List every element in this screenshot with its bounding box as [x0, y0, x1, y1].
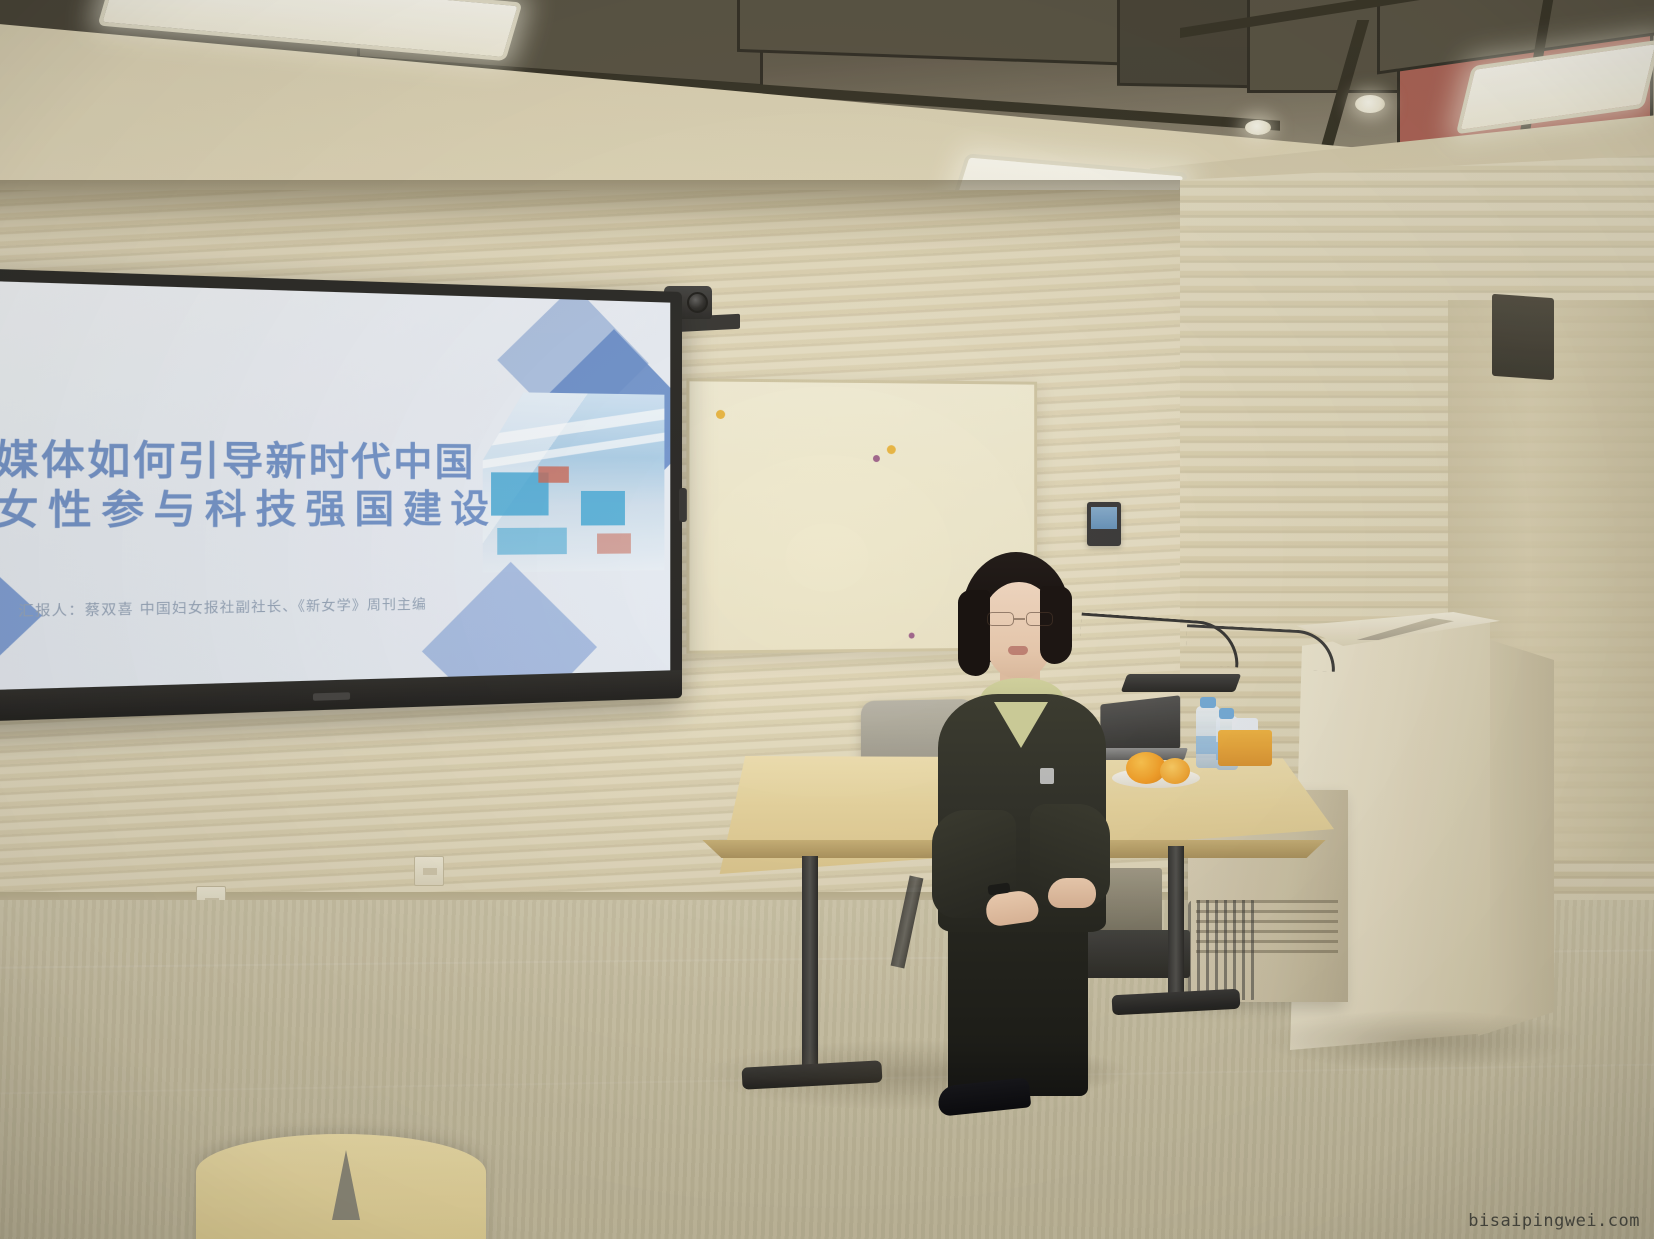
microphone-base: [1121, 674, 1242, 692]
conference-room-photo: 媒体如何引导新时代中国 女性参与科技强国建设 汇报人：蔡双喜 中国妇女报社副社长…: [0, 0, 1654, 1239]
slide-title-block: 媒体如何引导新时代中国 女性参与科技强国建设: [0, 435, 518, 535]
camera-lens-icon: [687, 292, 708, 313]
display-side-button[interactable]: [679, 488, 687, 522]
whiteboard-magnet[interactable]: [887, 445, 896, 454]
watermark: bisaipingwei.com: [1468, 1211, 1640, 1231]
table-leg: [802, 856, 818, 1074]
interactive-flat-panel-display[interactable]: 媒体如何引导新时代中国 女性参与科技强国建设 汇报人：蔡双喜 中国妇女报社副社长…: [0, 267, 682, 723]
bottle-cap: [1219, 708, 1234, 719]
display-brand-logo: [313, 692, 350, 701]
presenter-hand-right: [1048, 878, 1096, 908]
wall-control-touch-panel[interactable]: [1087, 502, 1121, 546]
downlight: [1245, 120, 1271, 135]
photo-detail: [538, 466, 568, 482]
tissue-box[interactable]: [1218, 730, 1272, 766]
whiteboard-magnet[interactable]: [909, 633, 915, 639]
slide-title-line-2: 女性参与科技强国建设: [0, 485, 518, 535]
slide-title-line-1: 媒体如何引导新时代中国: [0, 435, 518, 486]
ceiling-tile: [740, 0, 1140, 63]
laptop-screen[interactable]: [1100, 695, 1180, 755]
foreground-table-notch: [332, 1150, 360, 1220]
presenter-legs: [948, 914, 1088, 1096]
photo-detail: [597, 533, 631, 553]
presenter-hair: [958, 590, 990, 676]
presentation-slide: 媒体如何引导新时代中国 女性参与科技强国建设 汇报人：蔡双喜 中国妇女报社副社长…: [0, 280, 670, 691]
downlight: [1355, 95, 1385, 113]
table-leg: [1168, 846, 1184, 1006]
ceiling-speaker: [1492, 294, 1554, 380]
display-screen-area[interactable]: 媒体如何引导新时代中国 女性参与科技强国建设 汇报人：蔡双喜 中国妇女报社副社长…: [0, 280, 670, 691]
cable-bundle: [1188, 900, 1258, 1000]
whiteboard-magnet[interactable]: [873, 455, 880, 462]
wall-power-socket[interactable]: [414, 856, 444, 886]
podium-shadow: [1260, 1010, 1580, 1070]
slide-subtitle: 汇报人：蔡双喜 中国妇女报社副社长、《新女学》周刊主编: [18, 593, 427, 620]
bottle-cap: [1200, 697, 1216, 708]
orange-fruit[interactable]: [1160, 758, 1190, 784]
presenter-mouth: [1008, 646, 1028, 655]
control-panel-screen: [1091, 507, 1117, 529]
presenter-badge: [1040, 768, 1054, 784]
slide-diamond-shape: [422, 561, 597, 691]
whiteboard-magnet[interactable]: [716, 410, 725, 419]
photo-detail: [581, 491, 625, 526]
eyeglasses-icon: [986, 612, 1054, 626]
